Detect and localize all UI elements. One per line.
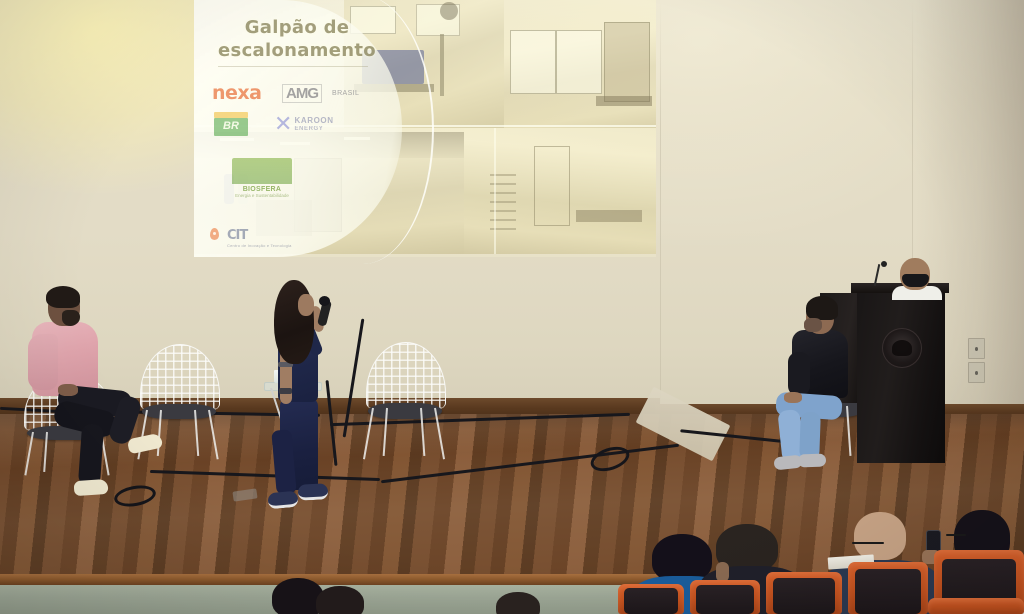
auditorium-seat-6[interactable] bbox=[928, 598, 1024, 614]
sponsor-br-label: BR bbox=[214, 120, 248, 132]
standing-woman-presenter bbox=[268, 280, 340, 520]
audience-member-1b bbox=[316, 586, 364, 614]
audience-member-4-hand bbox=[716, 562, 729, 582]
audience-member-6-glasses-icon bbox=[946, 534, 966, 536]
slide-title-rule bbox=[218, 66, 368, 67]
sponsor-logo-nexa: nexa bbox=[212, 82, 262, 104]
cit-sublabel: Centro de Inovação e Tecnologia bbox=[227, 243, 292, 248]
sponsor-nexa-label: nexa bbox=[212, 82, 262, 104]
microphone-head-icon bbox=[319, 296, 330, 306]
auditorium-seat-1[interactable] bbox=[618, 584, 684, 614]
auditorium-seat-2[interactable] bbox=[690, 580, 760, 614]
sponsor-logo-br-petrobras: BR bbox=[214, 112, 248, 136]
slide-photo-lab-cabinets bbox=[504, 0, 656, 128]
auditorium-seat-4[interactable] bbox=[848, 562, 928, 614]
sponsor-karoon-sublabel: ENERGY bbox=[294, 126, 333, 132]
cit-label: CIT bbox=[227, 228, 292, 243]
seated-man-left bbox=[22, 288, 172, 500]
projection-screen: Galpão de escalonamento nexa AMG BRASIL … bbox=[194, 0, 656, 257]
wall-seam-left bbox=[660, 0, 661, 420]
face-mask-icon bbox=[902, 274, 929, 287]
sponsor-biosfera-sublabel: Energia e Sustentabilidade bbox=[232, 193, 292, 198]
audience-member-5 bbox=[854, 512, 906, 560]
audience-member-2 bbox=[496, 592, 540, 614]
footer-logo-cit: CIT Centro de Inovação e Tecnologia bbox=[210, 228, 292, 248]
seated-man-right bbox=[778, 296, 888, 476]
sponsor-biosfera-label: BIOSFERA bbox=[232, 186, 292, 193]
slide-title-line1: Galpão de bbox=[202, 16, 392, 39]
sponsor-karoon-label: KAROON bbox=[294, 117, 333, 125]
wall-outlet-upper bbox=[968, 338, 985, 359]
sponsor-logo-biosfera: BIOSFERA Energia e Sustentabilidade bbox=[232, 158, 292, 198]
wall-outlet-lower bbox=[968, 362, 985, 383]
audience-member-5-glasses-icon bbox=[852, 542, 884, 544]
sponsor-logo-karoon-energy: ✕ KAROON ENERGY bbox=[274, 112, 334, 137]
location-pin-icon bbox=[210, 228, 219, 240]
biosfera-leaf-icon bbox=[232, 158, 292, 184]
podium-emblem bbox=[882, 328, 922, 368]
sponsor-logo-amg-brasil: AMG BRASIL bbox=[282, 84, 359, 103]
wire-chair-empty-2[interactable] bbox=[366, 342, 444, 460]
slide-title-line2: escalonamento bbox=[202, 39, 392, 62]
karoon-mark-icon: ✕ bbox=[274, 112, 289, 137]
podium-speaker bbox=[892, 258, 944, 298]
slide-photo-divider-vertical bbox=[494, 128, 496, 254]
auditorium-scene: Galpão de escalonamento nexa AMG BRASIL … bbox=[0, 0, 1024, 614]
sponsor-amg-label: AMG bbox=[282, 84, 322, 103]
audience-member-3 bbox=[652, 534, 712, 582]
auditorium-seat-3[interactable] bbox=[766, 572, 842, 614]
sponsor-amg-sublabel: BRASIL bbox=[332, 90, 359, 97]
slide-photo-factory-racks bbox=[464, 128, 656, 254]
slide-title: Galpão de escalonamento bbox=[202, 16, 392, 62]
podium-microphone-head-icon bbox=[881, 261, 887, 267]
